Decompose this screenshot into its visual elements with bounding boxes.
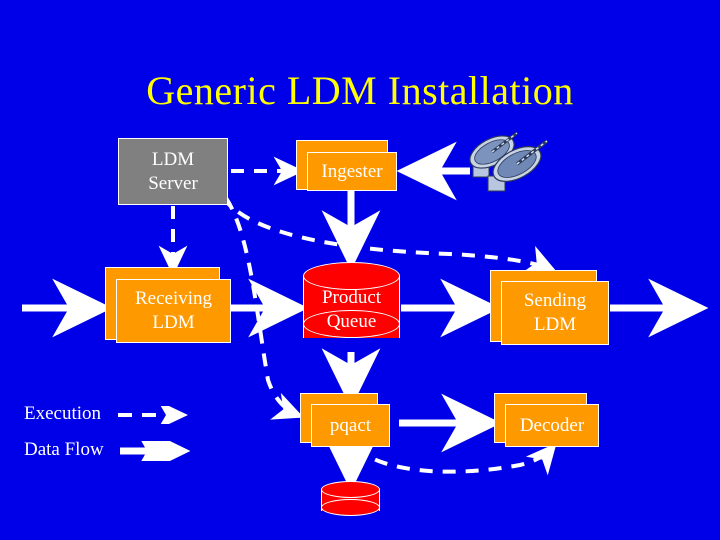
node-sending-ldm[interactable]: Sending LDM bbox=[501, 281, 609, 345]
legend-row-execution: Execution bbox=[24, 396, 202, 432]
node-ldm-server-label-line1: LDM bbox=[148, 148, 198, 172]
node-pqact-label: pqact bbox=[330, 414, 371, 438]
legend-row-data-flow: Data Flow bbox=[24, 432, 202, 468]
node-product-queue-label-line1: Product bbox=[303, 286, 400, 310]
exec-ldm-server-to-pqact bbox=[226, 198, 300, 416]
node-product-queue-label: Product Queue bbox=[303, 286, 400, 334]
node-ldm-server-label: LDM Server bbox=[148, 148, 198, 196]
legend-execution-dashed-arrow-icon bbox=[116, 406, 200, 424]
legend-data-flow-label: Data Flow bbox=[24, 432, 104, 468]
node-ldm-server-label-line2: Server bbox=[148, 172, 198, 196]
node-ingester-label: Ingester bbox=[321, 160, 382, 184]
node-disk-top-ellipse bbox=[321, 481, 380, 498]
legend-execution-label: Execution bbox=[24, 396, 101, 432]
slide-canvas: Generic LDM Installation bbox=[0, 0, 720, 540]
legend: Execution Data Flow bbox=[24, 396, 202, 468]
node-sending-ldm-label: Sending LDM bbox=[524, 289, 586, 337]
satellite-dish-icon bbox=[455, 126, 565, 201]
page-title: Generic LDM Installation bbox=[0, 68, 720, 114]
node-product-queue[interactable]: Product Queue bbox=[303, 262, 400, 352]
node-sending-ldm-label-line2: LDM bbox=[524, 313, 586, 337]
node-receiving-ldm-label-line2: LDM bbox=[135, 311, 212, 335]
node-receiving-ldm[interactable]: Receiving LDM bbox=[116, 279, 231, 343]
node-decoder[interactable]: Decoder bbox=[505, 404, 599, 447]
node-decoder-label: Decoder bbox=[520, 414, 584, 438]
node-product-queue-label-line2: Queue bbox=[303, 310, 400, 334]
exec-ldm-server-to-sending-ldm bbox=[222, 196, 553, 270]
node-pqact[interactable]: pqact bbox=[311, 404, 390, 447]
legend-data-flow-solid-arrow-icon bbox=[118, 441, 202, 461]
node-disk-bottom-ellipse bbox=[321, 499, 380, 516]
node-ldm-server[interactable]: LDM Server bbox=[118, 138, 228, 205]
exec-pqact-to-decoder bbox=[356, 446, 554, 472]
node-receiving-ldm-label: Receiving LDM bbox=[135, 287, 212, 335]
node-receiving-ldm-label-line1: Receiving bbox=[135, 287, 212, 311]
node-sending-ldm-label-line1: Sending bbox=[524, 289, 586, 313]
node-ingester[interactable]: Ingester bbox=[307, 152, 397, 191]
node-disk[interactable] bbox=[321, 481, 380, 521]
